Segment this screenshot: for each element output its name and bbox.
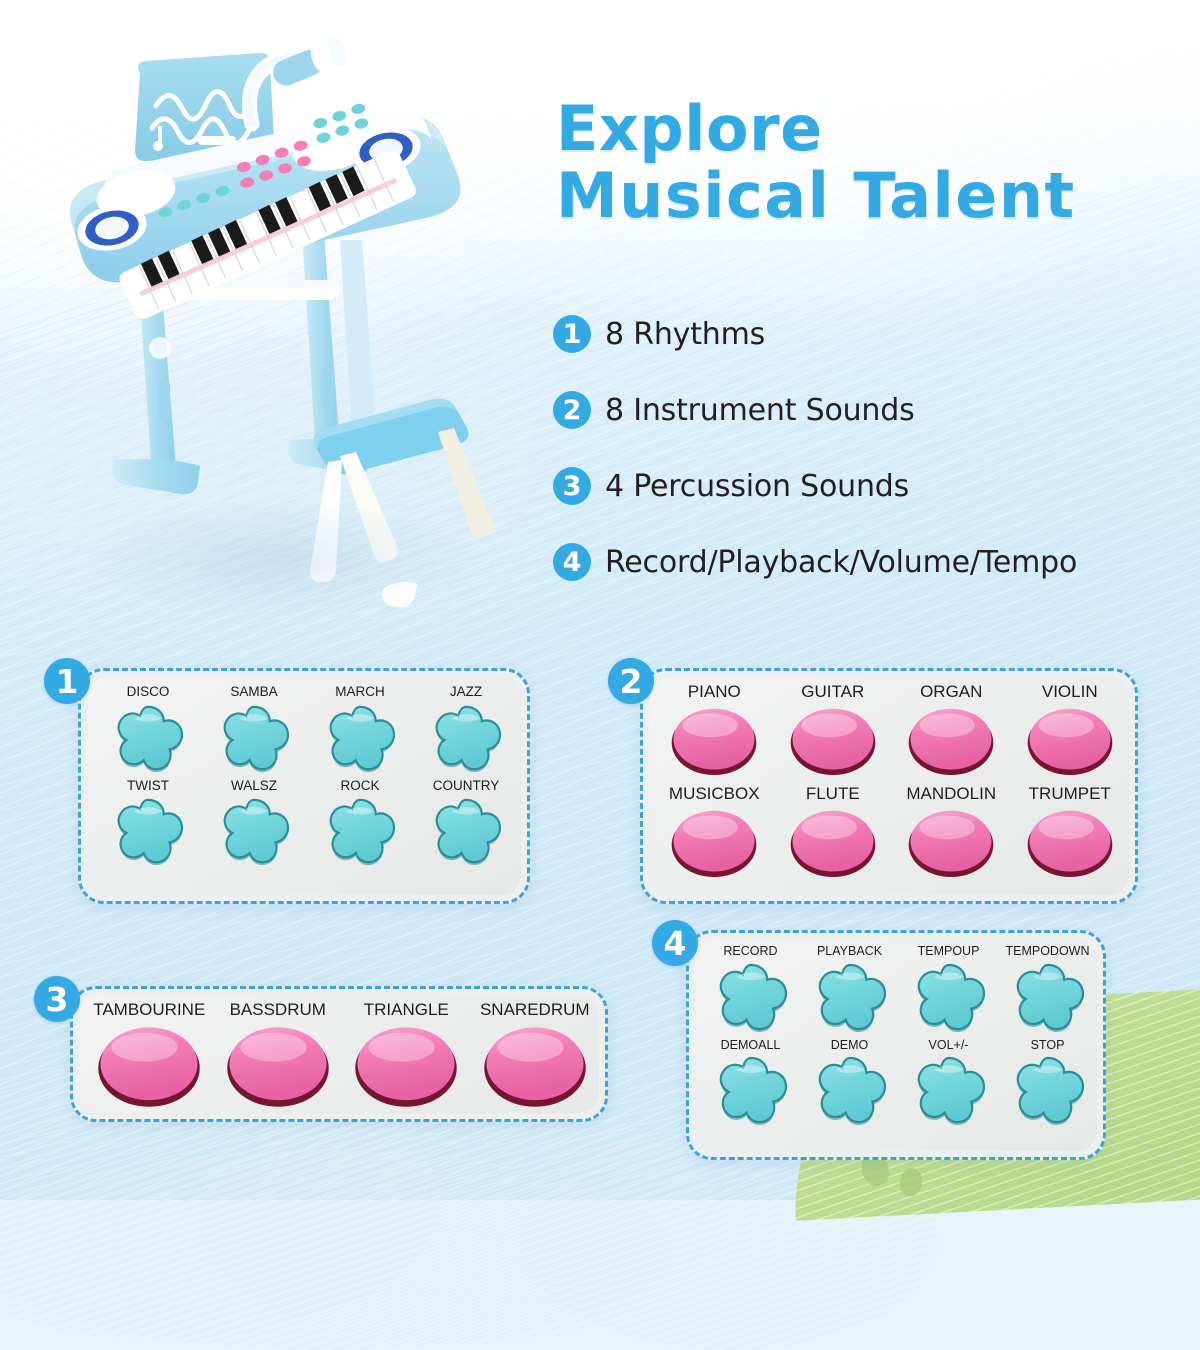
button-cell: MANDOLIN: [892, 785, 1011, 879]
button-cell: TRIANGLE: [342, 1001, 471, 1109]
button-disco[interactable]: [112, 704, 184, 773]
button-cell: MARCH: [307, 685, 413, 773]
button-walsz[interactable]: [218, 797, 290, 866]
button-cell: TEMPOUP: [899, 945, 998, 1033]
button-label: ORGAN: [920, 683, 982, 700]
button-cell: ORGAN: [892, 683, 1011, 777]
button-label: VOL+/-: [929, 1039, 969, 1052]
callout-panel-percussion-sounds: TAMBOURINE BASSDRUM TRIANGLE: [70, 986, 608, 1122]
headline-line-1: Explore: [556, 92, 823, 165]
button-cell: DEMOALL: [701, 1039, 800, 1127]
product-image-kids-keyboard: [40, 28, 520, 628]
feature-label-4: Record/Playback/Volume/Tempo: [605, 545, 1077, 580]
feature-item-2: 2 8 Instrument Sounds: [553, 372, 1193, 448]
button-label: MANDOLIN: [906, 785, 996, 802]
callout-panel-controls: RECORD PLAYBACK TEMPOUP: [686, 930, 1106, 1160]
button-cell: SAMBA: [201, 685, 307, 773]
feature-item-3: 3 4 Percussion Sounds: [553, 448, 1193, 524]
button-label: TEMPOUP: [918, 945, 980, 958]
button-label: MUSICBOX: [669, 785, 760, 802]
button-cell: DEMO: [800, 1039, 899, 1127]
button-cell: RECORD: [701, 945, 800, 1033]
button-trumpet[interactable]: [1024, 807, 1116, 879]
button-label: PLAYBACK: [817, 945, 882, 958]
button-organ[interactable]: [905, 705, 997, 777]
button-label: TAMBOURINE: [93, 1001, 205, 1018]
button-record[interactable]: [714, 962, 788, 1033]
feature-list: 1 8 Rhythms 2 8 Instrument Sounds 3 4 Pe…: [553, 296, 1193, 600]
button-mandolin[interactable]: [905, 807, 997, 879]
button-flute[interactable]: [787, 807, 879, 879]
feature-label-2: 8 Instrument Sounds: [605, 393, 915, 428]
button-label: JAZZ: [450, 685, 482, 699]
feature-badge-2: 2: [553, 391, 591, 429]
button-stop[interactable]: [1011, 1055, 1085, 1126]
callout-panel-instrument-sounds: PIANO GUITAR ORGAN: [640, 668, 1138, 904]
button-cell: TEMPODOWN: [998, 945, 1097, 1033]
button-guitar[interactable]: [787, 705, 879, 777]
button-tempodown[interactable]: [1011, 962, 1085, 1033]
button-country[interactable]: [430, 797, 502, 866]
button-label: BASSDRUM: [230, 1001, 326, 1018]
button-cell: SNAREDRUM: [471, 1001, 600, 1109]
button-cell: GUITAR: [774, 683, 893, 777]
panel-badge-1: 1: [44, 658, 90, 704]
button-label: DEMO: [831, 1039, 869, 1052]
button-cell: TRUMPET: [1011, 785, 1130, 879]
product-shadow: [80, 498, 480, 618]
button-twist[interactable]: [112, 797, 184, 866]
button-label: SAMBA: [230, 685, 277, 699]
feature-badge-4: 4: [553, 543, 591, 581]
button-label: FLUTE: [806, 785, 860, 802]
button-label: VIOLIN: [1042, 683, 1098, 700]
button-bassdrum[interactable]: [222, 1023, 334, 1109]
button-label: WALSZ: [231, 779, 277, 793]
button-demo[interactable]: [813, 1055, 887, 1126]
headline-line-2: Musical Talent: [556, 163, 1196, 230]
feature-badge-3: 3: [553, 467, 591, 505]
button-label: DEMOALL: [721, 1039, 781, 1052]
button-musicbox[interactable]: [668, 807, 760, 879]
button-label: STOP: [1031, 1039, 1065, 1052]
button-cell: PLAYBACK: [800, 945, 899, 1033]
button-tambourine[interactable]: [93, 1023, 205, 1109]
button-snaredrum[interactable]: [479, 1023, 591, 1109]
feature-item-1: 1 8 Rhythms: [553, 296, 1193, 372]
button-cell: ROCK: [307, 779, 413, 867]
button-label: TRUMPET: [1029, 785, 1111, 802]
panel-badge-3: 3: [34, 976, 80, 1022]
button-cell: TWIST: [95, 779, 201, 867]
button-label: SNAREDRUM: [480, 1001, 590, 1018]
callout-panel-rhythms: DISCO SAMBA MARCH: [78, 668, 530, 904]
button-cell: BASSDRUM: [214, 1001, 343, 1109]
button-jazz[interactable]: [430, 704, 502, 773]
button-label: MARCH: [335, 685, 385, 699]
feature-item-4: 4 Record/Playback/Volume/Tempo: [553, 524, 1193, 600]
button-label: GUITAR: [801, 683, 864, 700]
button-cell: TAMBOURINE: [85, 1001, 214, 1109]
button-label: ROCK: [340, 779, 379, 793]
button-rock[interactable]: [324, 797, 396, 866]
feature-badge-1: 1: [553, 315, 591, 353]
button-cell: VOL+/-: [899, 1039, 998, 1127]
button-cell: STOP: [998, 1039, 1097, 1127]
button-cell: FLUTE: [774, 785, 893, 879]
rhythm-button-grid: DISCO SAMBA MARCH: [95, 685, 519, 866]
button-march[interactable]: [324, 704, 396, 773]
button-label: RECORD: [723, 945, 777, 958]
button-cell: DISCO: [95, 685, 201, 773]
page-title: Explore Musical Talent: [556, 96, 1196, 230]
button-cell: JAZZ: [413, 685, 519, 773]
control-button-grid: RECORD PLAYBACK TEMPOUP: [701, 945, 1097, 1126]
button-vol[interactable]: [912, 1055, 986, 1126]
button-violin[interactable]: [1024, 705, 1116, 777]
button-triangle[interactable]: [350, 1023, 462, 1109]
button-cell: WALSZ: [201, 779, 307, 867]
button-label: DISCO: [127, 685, 170, 699]
button-label: TRIANGLE: [364, 1001, 449, 1018]
button-cell: COUNTRY: [413, 779, 519, 867]
feature-label-1: 8 Rhythms: [605, 317, 765, 352]
button-samba[interactable]: [218, 704, 290, 773]
feature-label-3: 4 Percussion Sounds: [605, 469, 909, 504]
button-label: TEMPODOWN: [1005, 945, 1089, 958]
button-label: PIANO: [688, 683, 741, 700]
button-piano[interactable]: [668, 705, 760, 777]
button-playback[interactable]: [813, 962, 887, 1033]
button-label: COUNTRY: [433, 779, 500, 793]
panel-badge-2: 2: [608, 658, 654, 704]
button-cell: PIANO: [655, 683, 774, 777]
panel-badge-4: 4: [652, 920, 698, 966]
button-cell: VIOLIN: [1011, 683, 1130, 777]
instrument-button-grid: PIANO GUITAR ORGAN: [655, 683, 1129, 879]
button-tempoup[interactable]: [912, 962, 986, 1033]
button-cell: MUSICBOX: [655, 785, 774, 879]
percussion-button-grid: TAMBOURINE BASSDRUM TRIANGLE: [85, 1001, 599, 1109]
button-label: TWIST: [127, 779, 169, 793]
button-demoall[interactable]: [714, 1055, 788, 1126]
